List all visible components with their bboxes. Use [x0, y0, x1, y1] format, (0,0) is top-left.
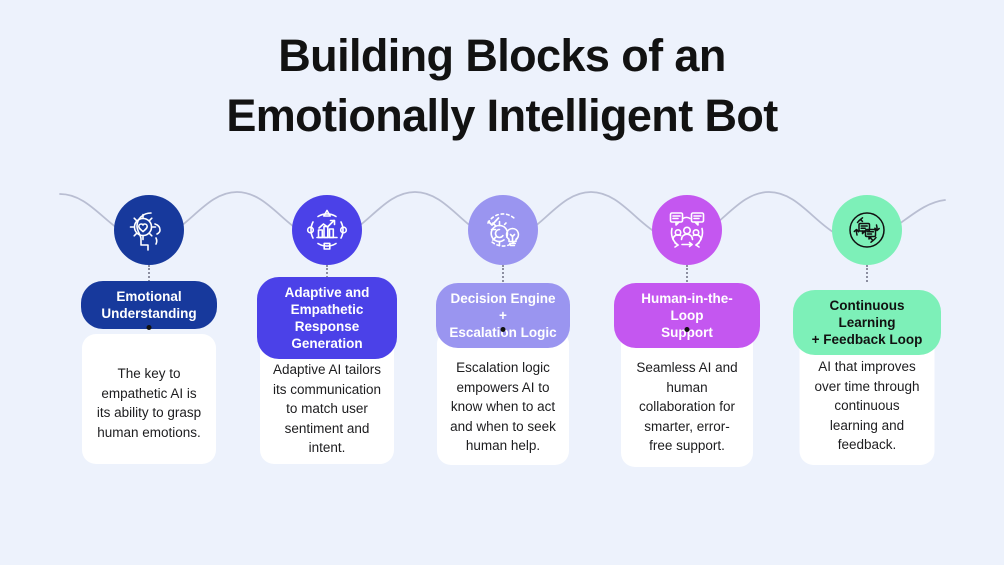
team-chat-cycle-icon — [652, 195, 722, 265]
dotted-connector — [502, 265, 504, 282]
block-continuous-learning-feedback-loop: Continuous Learning + Feedback Loop AI t… — [767, 0, 967, 565]
block-title-adaptive-empathetic-response-generation[interactable]: Adaptive and Empathetic Response Generat… — [257, 277, 397, 359]
gear-lightbulb-icon — [468, 195, 538, 265]
description-card: Seamless AI and human collaboration for … — [621, 330, 753, 467]
description-text: The key to empathetic AI is its ability … — [82, 334, 216, 442]
description-text: Escalation logic empowers AI to know whe… — [437, 330, 569, 456]
pill-anchor-dot — [147, 325, 152, 330]
block-adaptive-empathetic-response-generation: Adaptive and Empathetic Response Generat… — [227, 0, 427, 565]
dotted-connector — [686, 265, 688, 282]
block-human-in-the-loop-support: Human-in-the-Loop Support Seamless AI an… — [587, 0, 787, 565]
block-title-decision-engine-escalation-logic[interactable]: Decision Engine + Escalation Logic — [436, 283, 570, 348]
block-title-human-in-the-loop-support[interactable]: Human-in-the-Loop Support — [614, 283, 760, 348]
dotted-connector — [148, 265, 150, 282]
analytics-bar-chart-icon — [292, 195, 362, 265]
block-title-emotional-understanding[interactable]: Emotional Understanding — [81, 281, 217, 329]
block-title-continuous-learning-feedback-loop[interactable]: Continuous Learning + Feedback Loop — [793, 290, 941, 355]
pill-anchor-dot — [501, 327, 506, 332]
dotted-connector — [866, 265, 868, 282]
feedback-loop-chat-icon — [832, 195, 902, 265]
brain-gear-heart-icon — [114, 195, 184, 265]
description-text: Seamless AI and human collaboration for … — [621, 330, 753, 456]
pill-anchor-dot — [685, 327, 690, 332]
description-card: The key to empathetic AI is its ability … — [82, 334, 216, 464]
description-card: Escalation logic empowers AI to know whe… — [437, 330, 569, 465]
block-decision-engine-escalation-logic: Decision Engine + Escalation Logic Escal… — [403, 0, 603, 565]
block-emotional-understanding: Emotional Understanding The key to empat… — [49, 0, 249, 565]
infographic-canvas: Building Blocks of an Emotionally Intell… — [0, 0, 1004, 565]
